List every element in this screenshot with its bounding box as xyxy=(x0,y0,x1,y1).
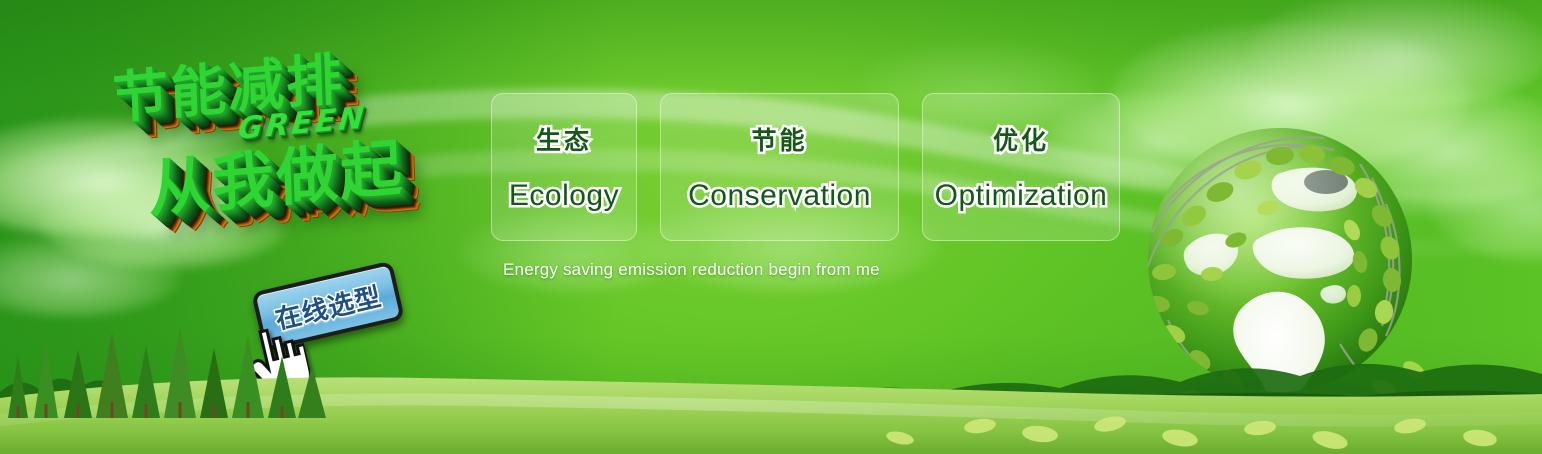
hero-3d-title: 节能减排 GREEN 从我做起 xyxy=(96,28,486,268)
conifer-trees-icon xyxy=(0,322,330,418)
ground-scenery xyxy=(0,324,1542,454)
feature-card-cn-label: 优化 xyxy=(993,121,1049,157)
green-energy-banner: 节能减排 GREEN 从我做起 在线选型 生态 Ecology 节能 Conse… xyxy=(0,0,1542,454)
feature-card-conservation[interactable]: 节能 Conservation xyxy=(660,93,899,241)
feature-card-optimization[interactable]: 优化 Optimization xyxy=(922,93,1120,241)
feature-card-en-label: Optimization xyxy=(935,179,1108,213)
feature-card-list: 生态 Ecology 节能 Conservation 优化 Optimizati… xyxy=(491,93,1120,241)
feature-card-cn-label: 节能 xyxy=(751,121,807,157)
feature-card-en-label: Ecology xyxy=(509,179,619,213)
hero-title-line2: 从我做起 xyxy=(147,117,405,229)
feature-card-en-label: Conservation xyxy=(688,179,871,213)
feature-card-cn-label: 生态 xyxy=(536,121,592,157)
feature-card-ecology[interactable]: 生态 Ecology xyxy=(491,93,637,241)
banner-tagline: Energy saving emission reduction begin f… xyxy=(503,260,880,280)
